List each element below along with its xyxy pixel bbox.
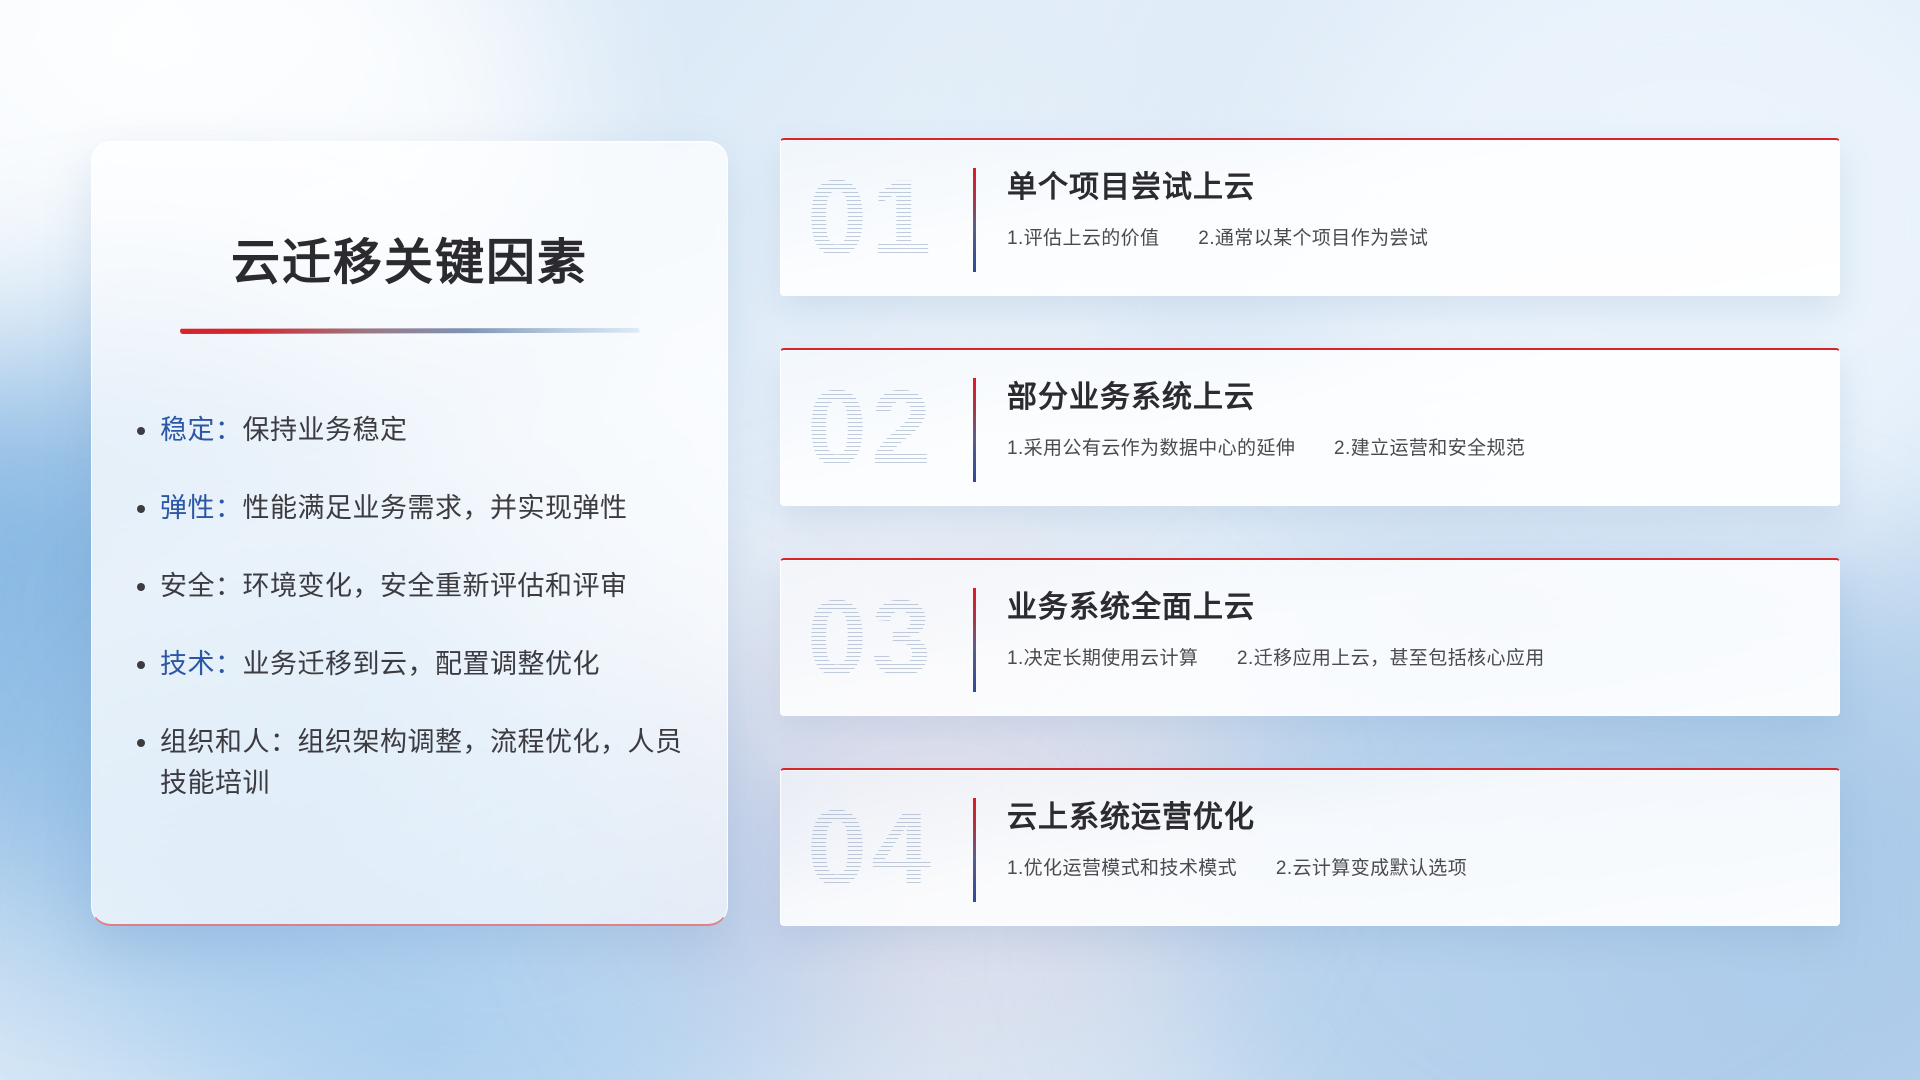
list-item: 组织和人：组织架构调整，流程优化，人员技能培训 <box>160 722 687 804</box>
title-underline-rule <box>180 328 640 334</box>
stage-title: 单个项目尝试上云 <box>1007 170 1813 206</box>
stage-title: 云上系统运营优化 <box>1007 800 1813 836</box>
key-factors-panel: 云迁移关键因素 稳定：保持业务稳定 弹性：性能满足业务需求，并实现弹性 安全：环… <box>91 141 728 926</box>
stage-card-body: 部分业务系统上云 1.采用公有云作为数据中心的延伸 2.建立运营和安全规范 <box>1007 380 1813 460</box>
migration-stage-cards: 01 单个项目尝试上云 1.评估上云的价值 2.通常以某个项目作为尝试 02 部… <box>780 138 1840 926</box>
stage-description: 1.决定长期使用云计算 2.迁移应用上云，甚至包括核心应用 <box>1007 643 1813 670</box>
stage-description: 1.优化运营模式和技术模式 2.云计算变成默认选项 <box>1007 853 1813 880</box>
factor-text: 环境变化，安全重新评估和评审 <box>243 571 628 601</box>
stage-card-02[interactable]: 02 部分业务系统上云 1.采用公有云作为数据中心的延伸 2.建立运营和安全规范 <box>780 348 1840 506</box>
stage-card-04[interactable]: 04 云上系统运营优化 1.优化运营模式和技术模式 2.云计算变成默认选项 <box>780 768 1840 926</box>
factor-label: 稳定： <box>160 415 243 445</box>
key-factors-list: 稳定：保持业务稳定 弹性：性能满足业务需求，并实现弹性 安全：环境变化，安全重新… <box>132 410 687 804</box>
stage-number: 04 <box>807 794 935 902</box>
factor-text: 保持业务稳定 <box>243 415 408 445</box>
factor-text: 性能满足业务需求，并实现弹性 <box>243 493 628 523</box>
stage-title: 业务系统全面上云 <box>1007 590 1813 626</box>
stage-title: 部分业务系统上云 <box>1007 380 1813 416</box>
stage-card-03[interactable]: 03 业务系统全面上云 1.决定长期使用云计算 2.迁移应用上云，甚至包括核心应… <box>780 558 1840 716</box>
list-item: 安全：环境变化，安全重新评估和评审 <box>160 566 687 607</box>
page-title: 云迁移关键因素 <box>132 223 687 294</box>
stage-divider-bar <box>973 168 976 272</box>
stage-divider-bar <box>973 588 976 692</box>
stage-description: 1.评估上云的价值 2.通常以某个项目作为尝试 <box>1007 223 1813 250</box>
stage-card-01[interactable]: 01 单个项目尝试上云 1.评估上云的价值 2.通常以某个项目作为尝试 <box>780 138 1840 296</box>
stage-number: 01 <box>807 164 935 272</box>
list-item: 弹性：性能满足业务需求，并实现弹性 <box>160 488 687 529</box>
factor-text: 业务迁移到云，配置调整优化 <box>243 649 601 679</box>
stage-divider-bar <box>973 798 976 902</box>
factor-label: 组织和人： <box>160 727 298 757</box>
slide-root: 云迁移关键因素 稳定：保持业务稳定 弹性：性能满足业务需求，并实现弹性 安全：环… <box>0 0 1920 1080</box>
list-item: 技术：业务迁移到云，配置调整优化 <box>160 644 687 685</box>
list-item: 稳定：保持业务稳定 <box>160 410 687 451</box>
factor-label: 弹性： <box>160 493 243 523</box>
stage-card-body: 单个项目尝试上云 1.评估上云的价值 2.通常以某个项目作为尝试 <box>1007 170 1813 250</box>
stage-number: 03 <box>807 584 935 692</box>
factor-label: 技术： <box>160 649 243 679</box>
stage-divider-bar <box>973 378 976 482</box>
stage-number: 02 <box>807 374 935 482</box>
factor-label: 安全： <box>160 571 243 601</box>
stage-card-body: 云上系统运营优化 1.优化运营模式和技术模式 2.云计算变成默认选项 <box>1007 800 1813 880</box>
stage-card-body: 业务系统全面上云 1.决定长期使用云计算 2.迁移应用上云，甚至包括核心应用 <box>1007 590 1813 670</box>
stage-description: 1.采用公有云作为数据中心的延伸 2.建立运营和安全规范 <box>1007 433 1813 460</box>
